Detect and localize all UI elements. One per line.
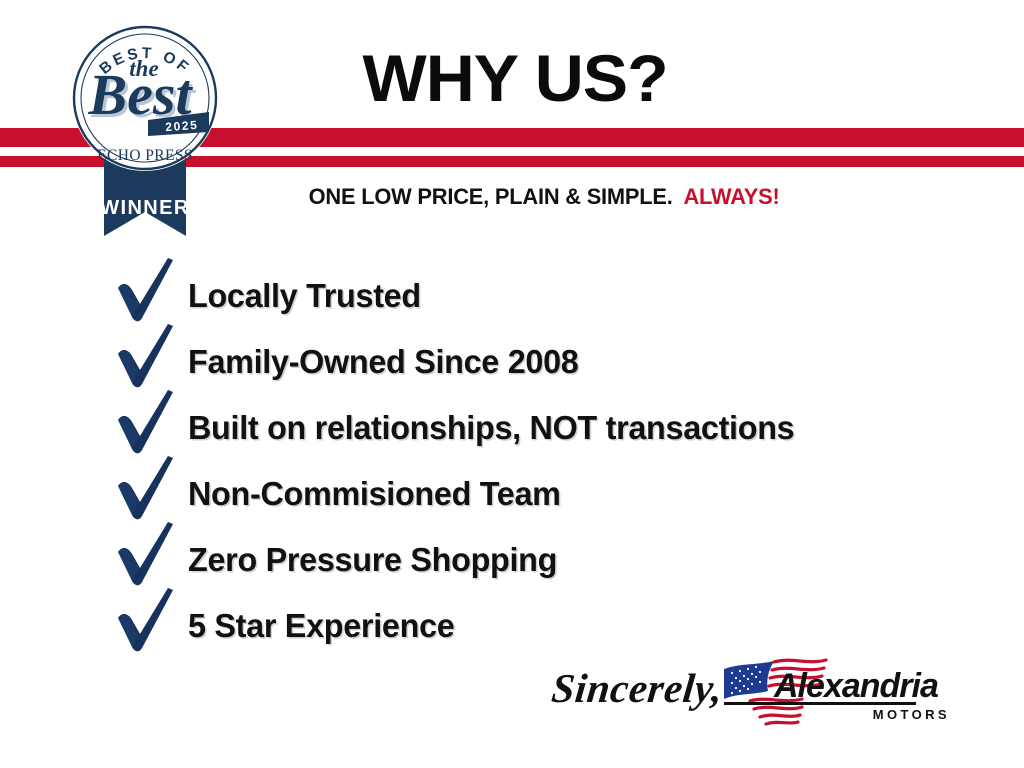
badge-publisher: ECHO PRESS — [97, 147, 193, 164]
list-item-label: Family-Owned Since 2008 — [188, 345, 578, 378]
list-item-label: Non-Commisioned Team — [188, 477, 561, 510]
list-item: Zero Pressure Shopping — [104, 526, 1004, 592]
tagline-emphasis: ALWAYS! — [684, 184, 780, 210]
alexandria-motors-logo: Alexandria MOTORS — [710, 655, 960, 735]
list-item-label: Built on relationships, NOT transactions — [188, 411, 794, 444]
tagline-main: ONE LOW PRICE, PLAIN & SIMPLE. — [308, 184, 672, 210]
logo-brand-sub: MOTORS — [873, 707, 950, 722]
best-of-the-best-award-badge: WINNER BEST OF the Best Best 2025 ECHO P… — [70, 14, 220, 236]
list-item-label: Locally Trusted — [188, 279, 421, 312]
signoff-text: Sincerely, — [549, 664, 725, 712]
list-item: Family-Owned Since 2008 — [104, 328, 1004, 394]
badge-ribbon-label: WINNER — [100, 197, 190, 219]
logo-brand-name: Alexandria — [773, 667, 938, 705]
slide-canvas: WINNER BEST OF the Best Best 2025 ECHO P… — [0, 0, 1024, 768]
list-item: 5 Star Experience — [104, 592, 1004, 658]
checkmark-icon — [104, 592, 188, 658]
slide-headline-text: WHY US? — [362, 45, 667, 111]
list-item: Built on relationships, NOT transactions — [104, 394, 1004, 460]
list-item: Non-Commisioned Team — [104, 460, 1004, 526]
badge-year: 2025 — [165, 118, 199, 134]
list-item-label: Zero Pressure Shopping — [188, 543, 557, 576]
benefits-list: Locally Trusted Family-Owned Since 2008 … — [104, 262, 1004, 658]
list-item-label: 5 Star Experience — [188, 609, 454, 642]
list-item: Locally Trusted — [104, 262, 1004, 328]
slide-headline: WHY US? — [300, 42, 730, 114]
